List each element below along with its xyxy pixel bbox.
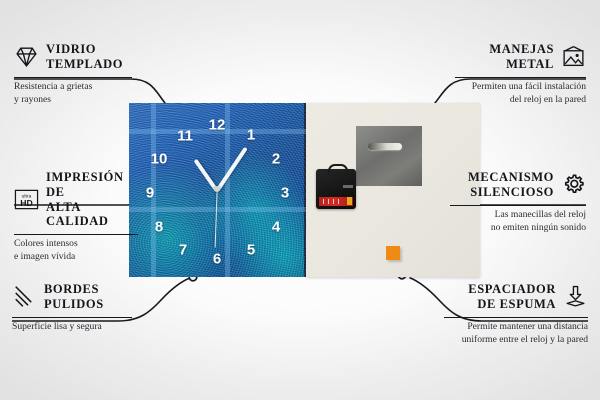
callout-rule [450,205,586,206]
mechanism-hook [328,164,348,174]
callout-title: MECANISMOSILENCIOSO [450,170,554,200]
callout-title: VIDRIOTEMPLADO [46,42,123,72]
callout-mecanismo-silencioso: MECANISMOSILENCIOSO Las manecillas del r… [450,170,586,234]
callout-desc: Permiten una fácil instalacióndel reloj … [455,81,586,106]
gear-icon [561,172,586,197]
diamond-gem-icon [14,44,39,69]
polished-edges-icon [12,284,37,309]
clock-numeral-2: 2 [272,152,280,167]
clock-face: 12 1 2 3 4 5 6 7 8 9 10 11 [129,103,306,277]
callout-rule [14,77,132,78]
clock-numeral-5: 5 [247,243,255,258]
metal-hanger-plate [356,126,422,186]
product-photo: 12 1 2 3 4 5 6 7 8 9 10 11 [129,103,480,277]
callout-title: IMPRESIÓN DEALTA CALIDAD [46,170,139,229]
clock-numeral-3: 3 [281,186,289,201]
callout-impresion-alta-calidad: ultra HD IMPRESIÓN DEALTA CALIDAD Colore… [14,170,139,264]
clock-numeral-1: 1 [247,128,255,143]
callout-desc: Permite mantener una distanciauniforme e… [444,321,588,346]
clock-center-pin [214,186,220,192]
clock-front-panel: 12 1 2 3 4 5 6 7 8 9 10 11 [129,103,306,277]
mechanism-battery-chip [347,197,352,205]
clock-numeral-7: 7 [179,243,187,258]
clock-numeral-6: 6 [213,252,221,267]
callout-rule [14,234,138,235]
callout-desc: Colores intensose imagen vívida [14,238,139,263]
callout-espaciador-espuma: ESPACIADORDE ESPUMA Permite mantener una… [444,282,588,346]
callout-rule [12,317,132,318]
clock-numeral-12: 12 [209,118,226,133]
callout-title: MANEJASMETAL [455,42,554,72]
callout-desc: Resistencia a grietasy rayones [14,81,134,106]
clock-second-hand [214,190,217,248]
picture-frame-hanger-icon [561,44,586,69]
foam-spacer [386,246,400,260]
clock-numeral-9: 9 [146,186,154,201]
callout-bordes-pulidos: BORDESPULIDOS Superficie lisa y segura [12,282,134,334]
callout-title: ESPACIADORDE ESPUMA [444,282,556,312]
callout-manejas-metal: MANEJASMETAL Permiten una fácil instalac… [455,42,586,106]
ultra-hd-icon: ultra HD [14,187,39,212]
mechanism-vent [343,185,353,188]
callout-desc: Las manecillas del relojno emiten ningún… [450,209,586,234]
callout-title: BORDESPULIDOS [44,282,104,312]
infographic-canvas: 12 1 2 3 4 5 6 7 8 9 10 11 [0,0,600,400]
callout-vidrio-templado: VIDRIOTEMPLADO Resistencia a grietasy ra… [14,42,134,106]
clock-numeral-10: 10 [151,152,168,167]
quartz-mechanism-box [316,169,356,209]
callout-rule [455,77,586,78]
clock-minute-hand [215,147,247,192]
clock-numeral-11: 11 [177,129,193,144]
clock-numeral-8: 8 [155,220,163,235]
callout-desc: Superficie lisa y segura [12,321,134,334]
callout-rule [444,317,588,318]
svg-text:HD: HD [20,198,32,208]
hanger-slot [368,143,402,150]
clock-numeral-4: 4 [272,220,280,235]
arrow-down-stack-icon [563,284,588,309]
